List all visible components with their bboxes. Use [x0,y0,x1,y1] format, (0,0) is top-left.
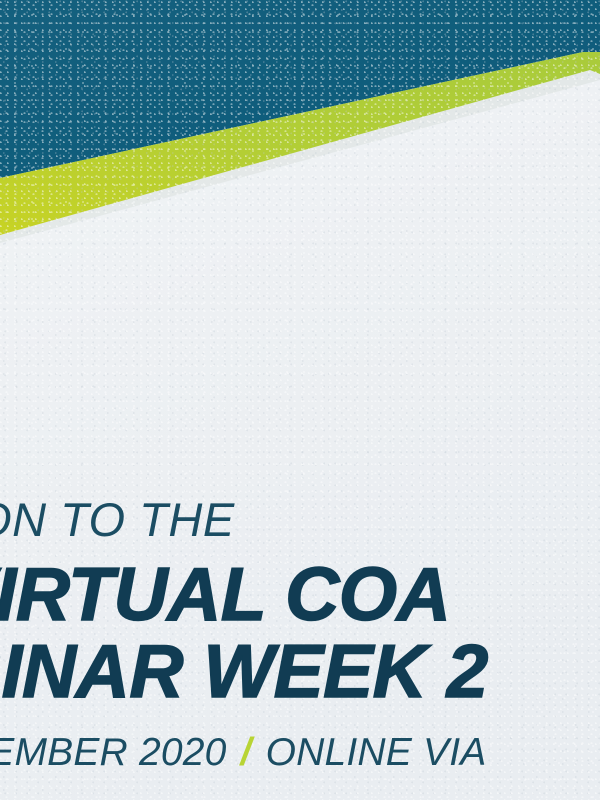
headline-line-1: VIRTUAL COA [0,559,600,630]
separator-slash-icon: / [227,733,266,772]
footer-detail-line: PTEMBER 2020 / ONLINE VIA [0,733,600,772]
headline-block: ATION TO THE VIRTUAL COA BINAR WEEK 2 PT… [0,496,600,773]
eyebrow-text: ATION TO THE [0,496,600,543]
event-channel-text: ONLINE VIA [266,733,487,772]
event-invitation-banner: ATION TO THE VIRTUAL COA BINAR WEEK 2 PT… [0,0,600,800]
event-date-text: PTEMBER 2020 [0,733,227,772]
headline-line-2: BINAR WEEK 2 [0,636,600,707]
